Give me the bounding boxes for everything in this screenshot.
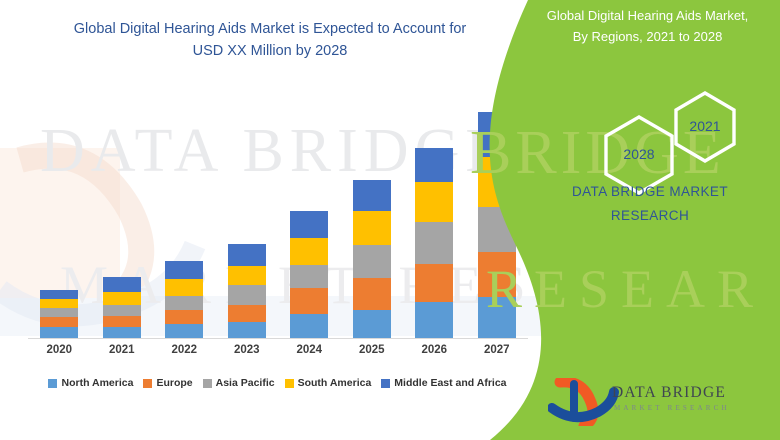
bar-segment-2020-asia-pacific	[40, 308, 78, 317]
bar-segment-2022-south-america	[165, 279, 203, 296]
bar-segment-2023-asia-pacific	[228, 285, 266, 305]
legend-swatch-icon	[48, 379, 57, 388]
bar-segment-2024-south-america	[290, 238, 328, 265]
bar-segment-2020-europe	[40, 317, 78, 327]
panel-title: Global Digital Hearing Aids Market, By R…	[520, 6, 775, 48]
bar-2025	[353, 180, 391, 338]
legend-label: North America	[61, 377, 133, 389]
legend-label: Asia Pacific	[216, 377, 275, 389]
chart-legend: North AmericaEuropeAsia PacificSouth Ame…	[20, 374, 535, 392]
panel-brand-line-2: RESEARCH	[530, 204, 770, 228]
bar-segment-2025-north-america	[353, 310, 391, 338]
legend-swatch-icon	[203, 379, 212, 388]
bar-segment-2024-asia-pacific	[290, 265, 328, 288]
bar-segment-2023-middle-east-and-africa	[228, 244, 266, 266]
bar-segment-2025-south-america	[353, 211, 391, 245]
bar-2021	[103, 277, 141, 338]
bar-2026	[415, 148, 453, 338]
bar-segment-2020-middle-east-and-africa	[40, 290, 78, 299]
page-title: Global Digital Hearing Aids Market is Ex…	[40, 18, 500, 63]
bar-2023	[228, 244, 266, 338]
legend-label: South America	[298, 377, 372, 389]
chart-title-line-1: Global Digital Hearing Aids Market is Ex…	[40, 18, 500, 40]
hexagon-2021-label: 2021	[675, 118, 735, 134]
bar-segment-2021-south-america	[103, 292, 141, 305]
x-axis-label-2021: 2021	[92, 344, 152, 356]
panel-watermark-2: RESEAR	[486, 258, 780, 320]
bar-segment-2026-middle-east-and-africa	[415, 148, 453, 182]
x-axis-label-2026: 2026	[404, 344, 464, 356]
legend-item-north-america[interactable]: North America	[48, 377, 133, 389]
bar-segment-2026-north-america	[415, 302, 453, 338]
panel-title-line-2: By Regions, 2021 to 2028	[520, 27, 775, 48]
bar-segment-2020-north-america	[40, 327, 78, 338]
bar-2020	[40, 290, 78, 338]
bar-segment-2026-europe	[415, 264, 453, 302]
panel-brand: DATA BRIDGE MARKET RESEARCH	[530, 180, 770, 227]
panel-title-line-1: Global Digital Hearing Aids Market,	[520, 6, 775, 27]
bar-segment-2021-middle-east-and-africa	[103, 277, 141, 292]
bar-segment-2022-europe	[165, 310, 203, 324]
bar-segment-2021-north-america	[103, 327, 141, 338]
legend-item-south-america[interactable]: South America	[285, 377, 372, 389]
bar-segment-2026-south-america	[415, 182, 453, 222]
bar-segment-2023-south-america	[228, 266, 266, 285]
bar-chart-plot	[28, 95, 528, 338]
bar-segment-2021-asia-pacific	[103, 305, 141, 316]
x-axis-label-2022: 2022	[154, 344, 214, 356]
x-axis-label-2020: 2020	[29, 344, 89, 356]
legend-item-europe[interactable]: Europe	[143, 377, 192, 389]
infographic-canvas: DATA BRIDGE MARKET RESEARCH Global Digit…	[0, 0, 780, 440]
bar-segment-2021-europe	[103, 316, 141, 327]
bar-segment-2025-europe	[353, 278, 391, 310]
legend-label: Europe	[156, 377, 192, 389]
legend-item-asia-pacific[interactable]: Asia Pacific	[203, 377, 275, 389]
bar-2024	[290, 211, 328, 338]
bar-segment-2025-middle-east-and-africa	[353, 180, 391, 211]
logo-name: DATA BRIDGE	[612, 384, 726, 402]
bar-segment-2025-asia-pacific	[353, 245, 391, 278]
x-axis-label-2025: 2025	[342, 344, 402, 356]
bar-segment-2023-north-america	[228, 322, 266, 338]
x-axis-labels: 20202021202220232024202520262027	[28, 344, 528, 364]
bar-segment-2022-asia-pacific	[165, 296, 203, 310]
x-axis-line	[28, 338, 528, 339]
legend-swatch-icon	[143, 379, 152, 388]
chart-title-line-2: USD XX Million by 2028	[40, 40, 500, 62]
bar-segment-2024-middle-east-and-africa	[290, 211, 328, 238]
x-axis-label-2023: 2023	[217, 344, 277, 356]
logo-subtitle: MARKET RESEARCH	[614, 404, 730, 412]
bar-segment-2020-south-america	[40, 299, 78, 308]
x-axis-label-2024: 2024	[279, 344, 339, 356]
panel-brand-line-1: DATA BRIDGE MARKET	[530, 180, 770, 204]
bar-segment-2024-europe	[290, 288, 328, 314]
bar-segment-2023-europe	[228, 305, 266, 322]
bar-segment-2022-middle-east-and-africa	[165, 261, 203, 279]
legend-swatch-icon	[285, 379, 294, 388]
bar-2022	[165, 261, 203, 338]
legend-swatch-icon	[381, 379, 390, 388]
bar-segment-2022-north-america	[165, 324, 203, 338]
bar-segment-2026-asia-pacific	[415, 222, 453, 264]
hexagon-2028-label: 2028	[609, 146, 669, 162]
bar-segment-2024-north-america	[290, 314, 328, 338]
